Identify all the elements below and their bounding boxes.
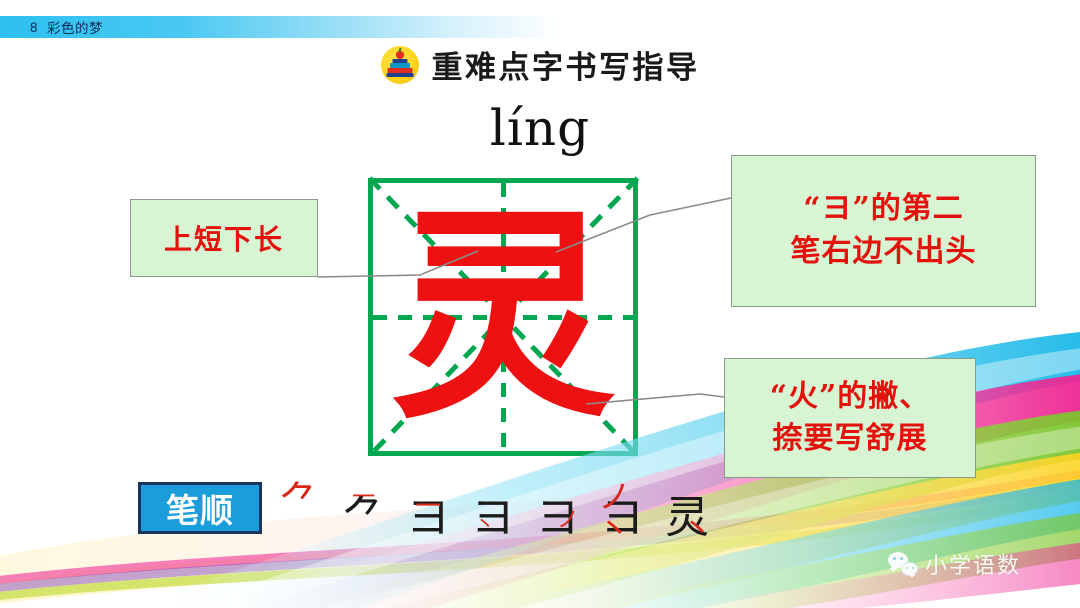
stroke-step: ⺈ 一 [333,476,395,542]
stroke-step: ヨ 一 [397,476,459,542]
wechat-icon [888,552,918,576]
watermark: 小学语数 [888,548,1021,580]
stroke-step: ⺈ [268,476,330,542]
connector-topright [556,198,731,252]
stroke-step-new: 丶 [666,515,728,546]
stroke-step-new: 丶 [454,514,516,534]
stroke-step: ヨ 丶 [462,476,524,542]
stroke-order-badge: 笔顺 [138,482,262,534]
stroke-step: 灵 丶 [656,476,718,542]
stroke-step-new: ⺈ [268,482,330,522]
connector-left [318,251,478,277]
stroke-step-new: 一 [333,486,395,509]
wechat-dot [893,557,896,560]
connector-bottomright [586,394,724,404]
wechat-dot [906,567,909,570]
watermark-text: 小学语数 [925,548,1021,580]
stroke-step-new: 一 [397,494,459,520]
stroke-step: ヨ ノ [527,476,589,542]
wechat-bubble-small [901,562,918,576]
wechat-dot [912,567,915,570]
stroke-step-new: ノ丶 [584,480,646,546]
stroke-step: ヨ ノ丶 [592,476,654,542]
stroke-order-sequence: ⺈ ⺈ 一 ヨ 一 ヨ 丶 ヨ ノ ヨ ノ丶 灵 丶 [268,472,718,542]
wechat-dot [900,557,903,560]
stroke-order-label: 笔顺 [166,484,234,532]
